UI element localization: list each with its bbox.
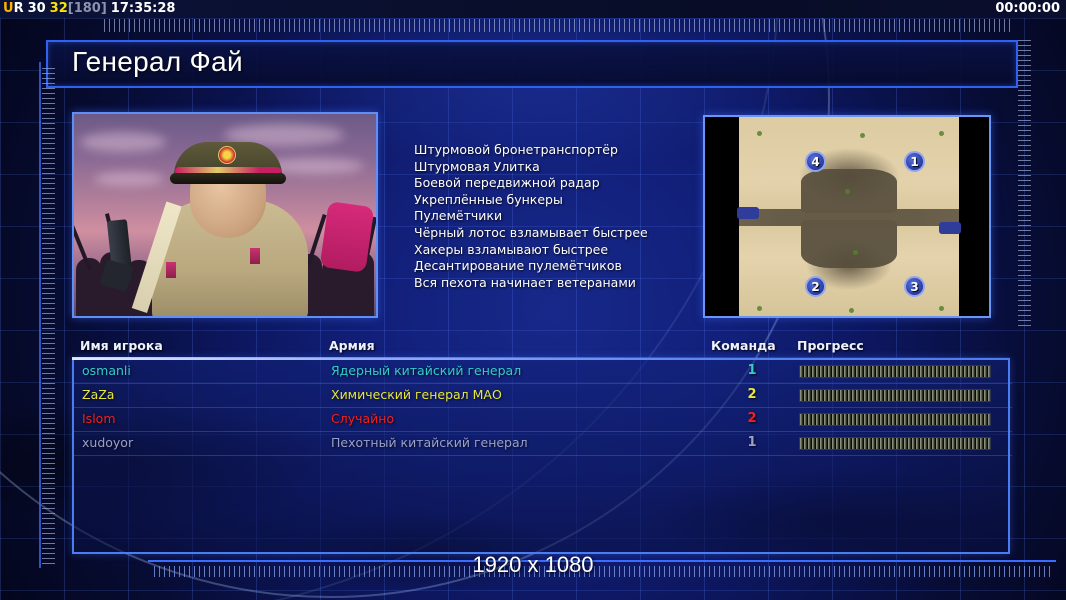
player-team: 2 xyxy=(742,411,762,426)
general-cap-brim xyxy=(170,173,286,184)
player-army: Химический генерал МАО xyxy=(331,387,502,402)
general-portrait-image xyxy=(74,114,376,316)
table-row[interactable]: IslomСлучайно2 xyxy=(74,408,1012,432)
player-progress-fill xyxy=(800,390,990,401)
status-u-letter: U xyxy=(3,1,14,16)
page-title: Генерал Фай xyxy=(72,46,243,78)
pistol-icon xyxy=(107,219,133,283)
general-portrait-frame xyxy=(72,112,378,318)
player-progress-bar xyxy=(799,389,991,402)
table-row[interactable]: ZaZaХимический генерал МАО2 xyxy=(74,384,1012,408)
general-abilities-list: Штурмовой бронетранспортёрШтурмовая Улит… xyxy=(414,142,704,291)
minimap-tree xyxy=(757,131,762,136)
cloud-shape xyxy=(94,172,164,186)
minimap-start-position[interactable]: 1 xyxy=(904,151,925,172)
minimap-tree xyxy=(849,308,854,313)
minimap-start-position[interactable]: 4 xyxy=(805,151,826,172)
general-cap-emblem xyxy=(218,146,236,164)
cloud-shape xyxy=(80,132,166,152)
player-army: Ядерный китайский генерал xyxy=(331,363,521,378)
ability-item: Укреплённые бункеры xyxy=(414,192,704,209)
ability-item: Вся пехота начинает ветеранами xyxy=(414,275,704,292)
column-header-army: Армия xyxy=(329,338,375,353)
status-r-letter: R xyxy=(14,1,24,16)
ability-item: Чёрный лотос взламывает быстрее xyxy=(414,225,704,242)
minimap-tree xyxy=(845,189,850,194)
ability-item: Десантирование пулемётчиков xyxy=(414,258,704,275)
column-header-name: Имя игрока xyxy=(80,338,163,353)
column-header-progress: Прогресс xyxy=(797,338,864,353)
status-clock: 17:35:28 xyxy=(111,1,176,16)
player-name: xudoyor xyxy=(82,435,133,450)
ability-item: Пулемётчики xyxy=(414,208,704,225)
elapsed-timer: 00:00:00 xyxy=(995,0,1060,18)
player-table-headers: Имя игрока Армия Команда Прогресс xyxy=(72,338,1010,358)
table-row[interactable]: osmanliЯдерный китайский генерал1 xyxy=(74,360,1012,384)
frame-line-left xyxy=(39,62,41,568)
player-progress-bar xyxy=(799,413,991,426)
status-bracket-value: [180] xyxy=(68,1,107,16)
ability-item: Хакеры взламывают быстрее xyxy=(414,242,704,259)
player-list-panel: osmanliЯдерный китайский генерал1ZaZaХим… xyxy=(72,358,1010,554)
player-team: 1 xyxy=(742,363,762,378)
status-value-32: 32 xyxy=(50,1,68,16)
column-header-team: Команда xyxy=(711,338,776,353)
minimap-tree xyxy=(939,131,944,136)
minimap-tree xyxy=(757,306,762,311)
resolution-label: 1920 x 1080 xyxy=(0,552,1066,578)
player-name: ZaZa xyxy=(82,387,114,402)
status-bar-left: UR3032[180]17:35:28 xyxy=(3,0,175,18)
minimap-image: 4123 xyxy=(739,117,959,316)
ability-item: Боевой передвижной радар xyxy=(414,175,704,192)
status-value-30: 30 xyxy=(28,1,46,16)
player-progress-fill xyxy=(800,438,990,449)
ability-item: Штурмовая Улитка xyxy=(414,159,704,176)
status-bar: UR3032[180]17:35:28 00:00:00 xyxy=(0,0,1066,18)
player-progress-fill xyxy=(800,366,990,377)
minimap-start-position[interactable]: 3 xyxy=(904,276,925,297)
ability-item: Штурмовой бронетранспортёр xyxy=(414,142,704,159)
minimap-frame: 4123 xyxy=(703,115,991,318)
game-loading-screen: UR3032[180]17:35:28 00:00:00 Генерал Фай xyxy=(0,0,1066,600)
minimap-start-position[interactable]: 2 xyxy=(805,276,826,297)
general-epaulette xyxy=(320,201,375,273)
minimap-water-east xyxy=(939,222,961,234)
player-army: Пехотный китайский генерал xyxy=(331,435,528,450)
player-name: osmanli xyxy=(82,363,131,378)
player-progress-bar xyxy=(799,437,991,450)
general-medal xyxy=(250,248,260,264)
table-row[interactable]: xudoyorПехотный китайский генерал1 xyxy=(74,432,1012,456)
player-team: 2 xyxy=(742,387,762,402)
player-name: Islom xyxy=(82,411,116,426)
player-team: 1 xyxy=(742,435,762,450)
header-underline xyxy=(72,357,1010,360)
minimap-water-west xyxy=(737,207,759,219)
player-progress-bar xyxy=(799,365,991,378)
minimap-terrain-south xyxy=(801,220,898,268)
player-army: Случайно xyxy=(331,411,394,426)
minimap-tree xyxy=(939,306,944,311)
minimap-tree xyxy=(860,133,865,138)
general-title-panel: Генерал Фай xyxy=(46,40,1018,88)
player-progress-fill xyxy=(800,414,990,425)
general-medal xyxy=(166,262,176,278)
minimap-river xyxy=(739,209,959,227)
